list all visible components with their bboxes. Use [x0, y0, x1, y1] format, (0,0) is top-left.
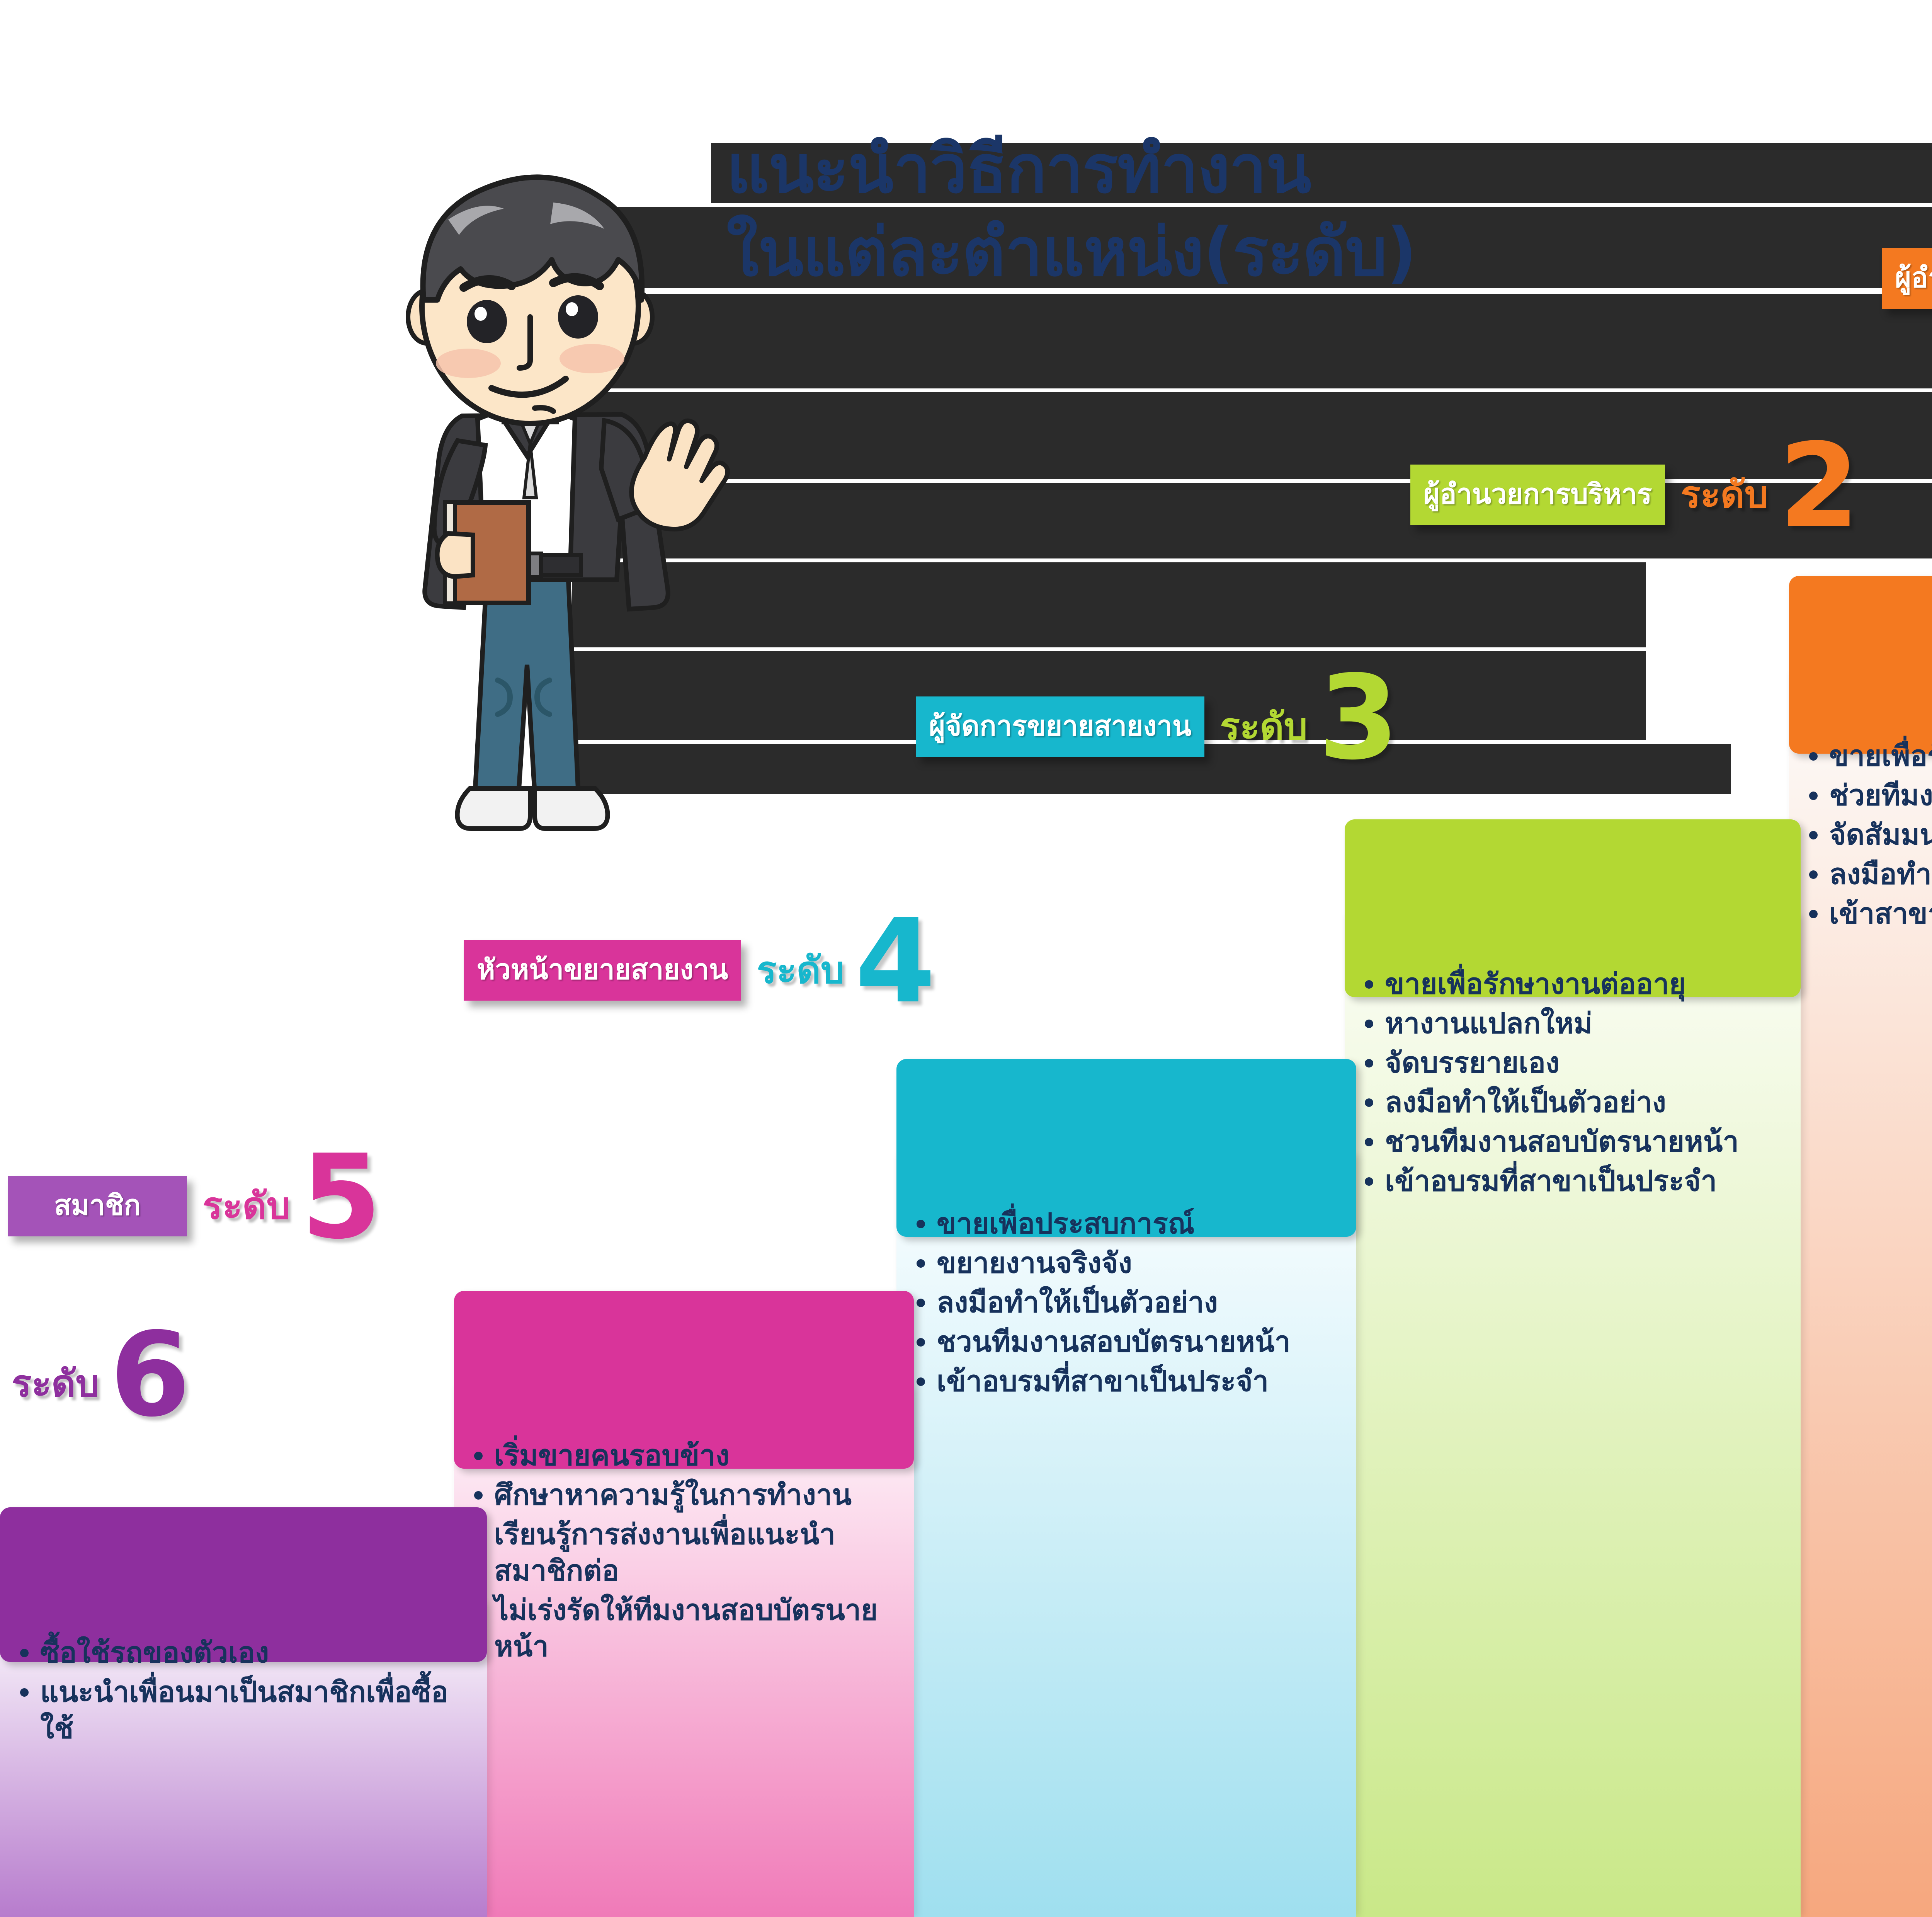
bullet-item: ชวนทีมงานสอบบัตรนายหน้า — [1362, 1124, 1779, 1160]
bullet-item: หางานแปลกใหม่ — [1362, 1006, 1779, 1042]
bullet-item: เรียนรู้การส่งงานเพื่อแนะนำสมาชิกต่อ — [471, 1517, 896, 1589]
bullet-item: แนะนำเพื่อนมาเป็นสมาชิกเพื่อซื้อใช้ — [17, 1674, 473, 1747]
level-word-6: ระดับ — [12, 1354, 99, 1413]
bullet-list-3: ขายเพื่อรักษางานต่ออายุหางานแปลกใหม่จัดบ… — [1362, 966, 1779, 1203]
bullet-item: ไม่เร่งรัดให้ทีมงานสอบบัตรนายหน้า — [471, 1592, 896, 1665]
page-title-line-1: แนะนำวิธีการทำงาน — [726, 128, 1808, 211]
step-bar-2 — [1789, 576, 1932, 754]
bullet-item: ขยายงานจริงจัง — [913, 1245, 1335, 1282]
bullet-list-4: ขายเพื่อประสบการณ์ขยายงานจริงจังลงมือทำใ… — [913, 1206, 1335, 1403]
bullet-item: ลงมือทำให้เป็นตัวอย่าง — [913, 1285, 1335, 1321]
level-number-6: 6 — [110, 1329, 190, 1422]
step-level-5: เริ่มขายคนรอบข้างศึกษาหาความรู้ในการทำงา… — [454, 1291, 914, 1917]
bullet-list-5: เริ่มขายคนรอบข้างศึกษาหาความรู้ในการทำงา… — [471, 1438, 896, 1668]
level-number-3: 3 — [1318, 672, 1399, 764]
step-level-3: ขายเพื่อรักษางานต่ออายุหางานแปลกใหม่จัดบ… — [1345, 819, 1801, 1917]
position-chip-5: สมาชิก — [8, 1176, 187, 1236]
step-level-6: ซื้อใช้รถของตัวเองแนะนำเพื่อนมาเป็นสมาชิ… — [0, 1507, 487, 1917]
bullet-item: ศึกษาหาความรู้ในการทำงาน — [471, 1477, 896, 1514]
bullet-item: จัดสัมมนาทีมเอง — [1806, 817, 1932, 853]
page-title-line-2: ในแต่ละตำแหน่ง(ระดับ) — [726, 211, 1808, 294]
level-number-2: 2 — [1779, 440, 1860, 533]
bullet-item: ช่วยทีมงานปิดงานใหญ่ — [1806, 778, 1932, 814]
mascot-illustration — [332, 170, 742, 877]
bullet-list-6: ซื้อใช้รถของตัวเองแนะนำเพื่อนมาเป็นสมาชิ… — [17, 1635, 473, 1750]
page-title: แนะนำวิธีการทำงาน ในแต่ละตำแหน่ง(ระดับ) — [726, 128, 1808, 294]
position-chip-2: ผู้อำนวยการบริหาร — [1410, 465, 1665, 525]
redaction-bar-3 — [572, 294, 1932, 388]
position-chip-4: หัวหน้าขยายสายงาน — [464, 940, 741, 1001]
level-word-5: ระดับ — [202, 1176, 290, 1235]
bullet-item: ซื้อใช้รถของตัวเอง — [17, 1635, 473, 1671]
level-number-5: 5 — [301, 1151, 382, 1244]
level-word-4: ระดับ — [757, 941, 844, 999]
position-chip-3: ผู้จัดการขยายสายงาน — [916, 696, 1204, 757]
position-chip-1: ผู้อำนวยการอาวุโส — [1882, 248, 1932, 309]
level-label-2[interactable]: ผู้อำนวยการบริหาร ระดับ 2 — [1410, 448, 1859, 541]
level-label-6[interactable]: ระดับ 6 — [12, 1337, 190, 1430]
bullet-item: ขายเพื่อรักษางานต่ออายุ — [1806, 738, 1932, 775]
level-number-4: 4 — [855, 915, 936, 1008]
bullet-item: ขายเพื่อรักษางานต่ออายุ — [1362, 966, 1779, 1003]
bullet-item: เริ่มขายคนรอบข้าง — [471, 1438, 896, 1474]
bullet-item: เข้าสาขาเป็นเประจำ — [1806, 896, 1932, 932]
bullet-item: ขายเพื่อประสบการณ์ — [913, 1206, 1335, 1242]
bullet-item: ลงมือทำให้เป็นตัวอย่าง — [1362, 1084, 1779, 1121]
level-label-1[interactable]: ผู้อำนวยการอาวุโส ระดับ 1 — [1882, 232, 1932, 325]
bullet-item: เข้าอบรมที่สาขาเป็นประจำ — [1362, 1163, 1779, 1200]
bullet-item: ลงมือทำให้เป็นตัวอย่าง — [1806, 856, 1932, 893]
level-label-4[interactable]: หัวหน้าขยายสายงาน ระดับ 4 — [464, 924, 936, 1016]
level-label-5[interactable]: สมาชิก ระดับ 5 — [8, 1159, 381, 1252]
step-level-4: ขายเพื่อประสบการณ์ขยายงานจริงจังลงมือทำใ… — [896, 1059, 1356, 1917]
bullet-item: จัดบรรยายเอง — [1362, 1045, 1779, 1081]
level-word-3: ระดับ — [1220, 697, 1307, 756]
bullet-item: ชวนทีมงานสอบบัตรนายหน้า — [913, 1324, 1335, 1360]
step-level-2: ขายเพื่อรักษางานต่ออายุช่วยทีมงานปิดงานใ… — [1789, 576, 1932, 1917]
level-label-3[interactable]: ผู้จัดการขยายสายงาน ระดับ 3 — [916, 680, 1399, 773]
bullet-item: เข้าอบรมที่สาขาเป็นประจำ — [913, 1364, 1335, 1400]
bullet-list-2: ขายเพื่อรักษางานต่ออายุช่วยทีมงานปิดงานใ… — [1806, 738, 1932, 935]
level-word-2: ระดับ — [1680, 465, 1768, 524]
